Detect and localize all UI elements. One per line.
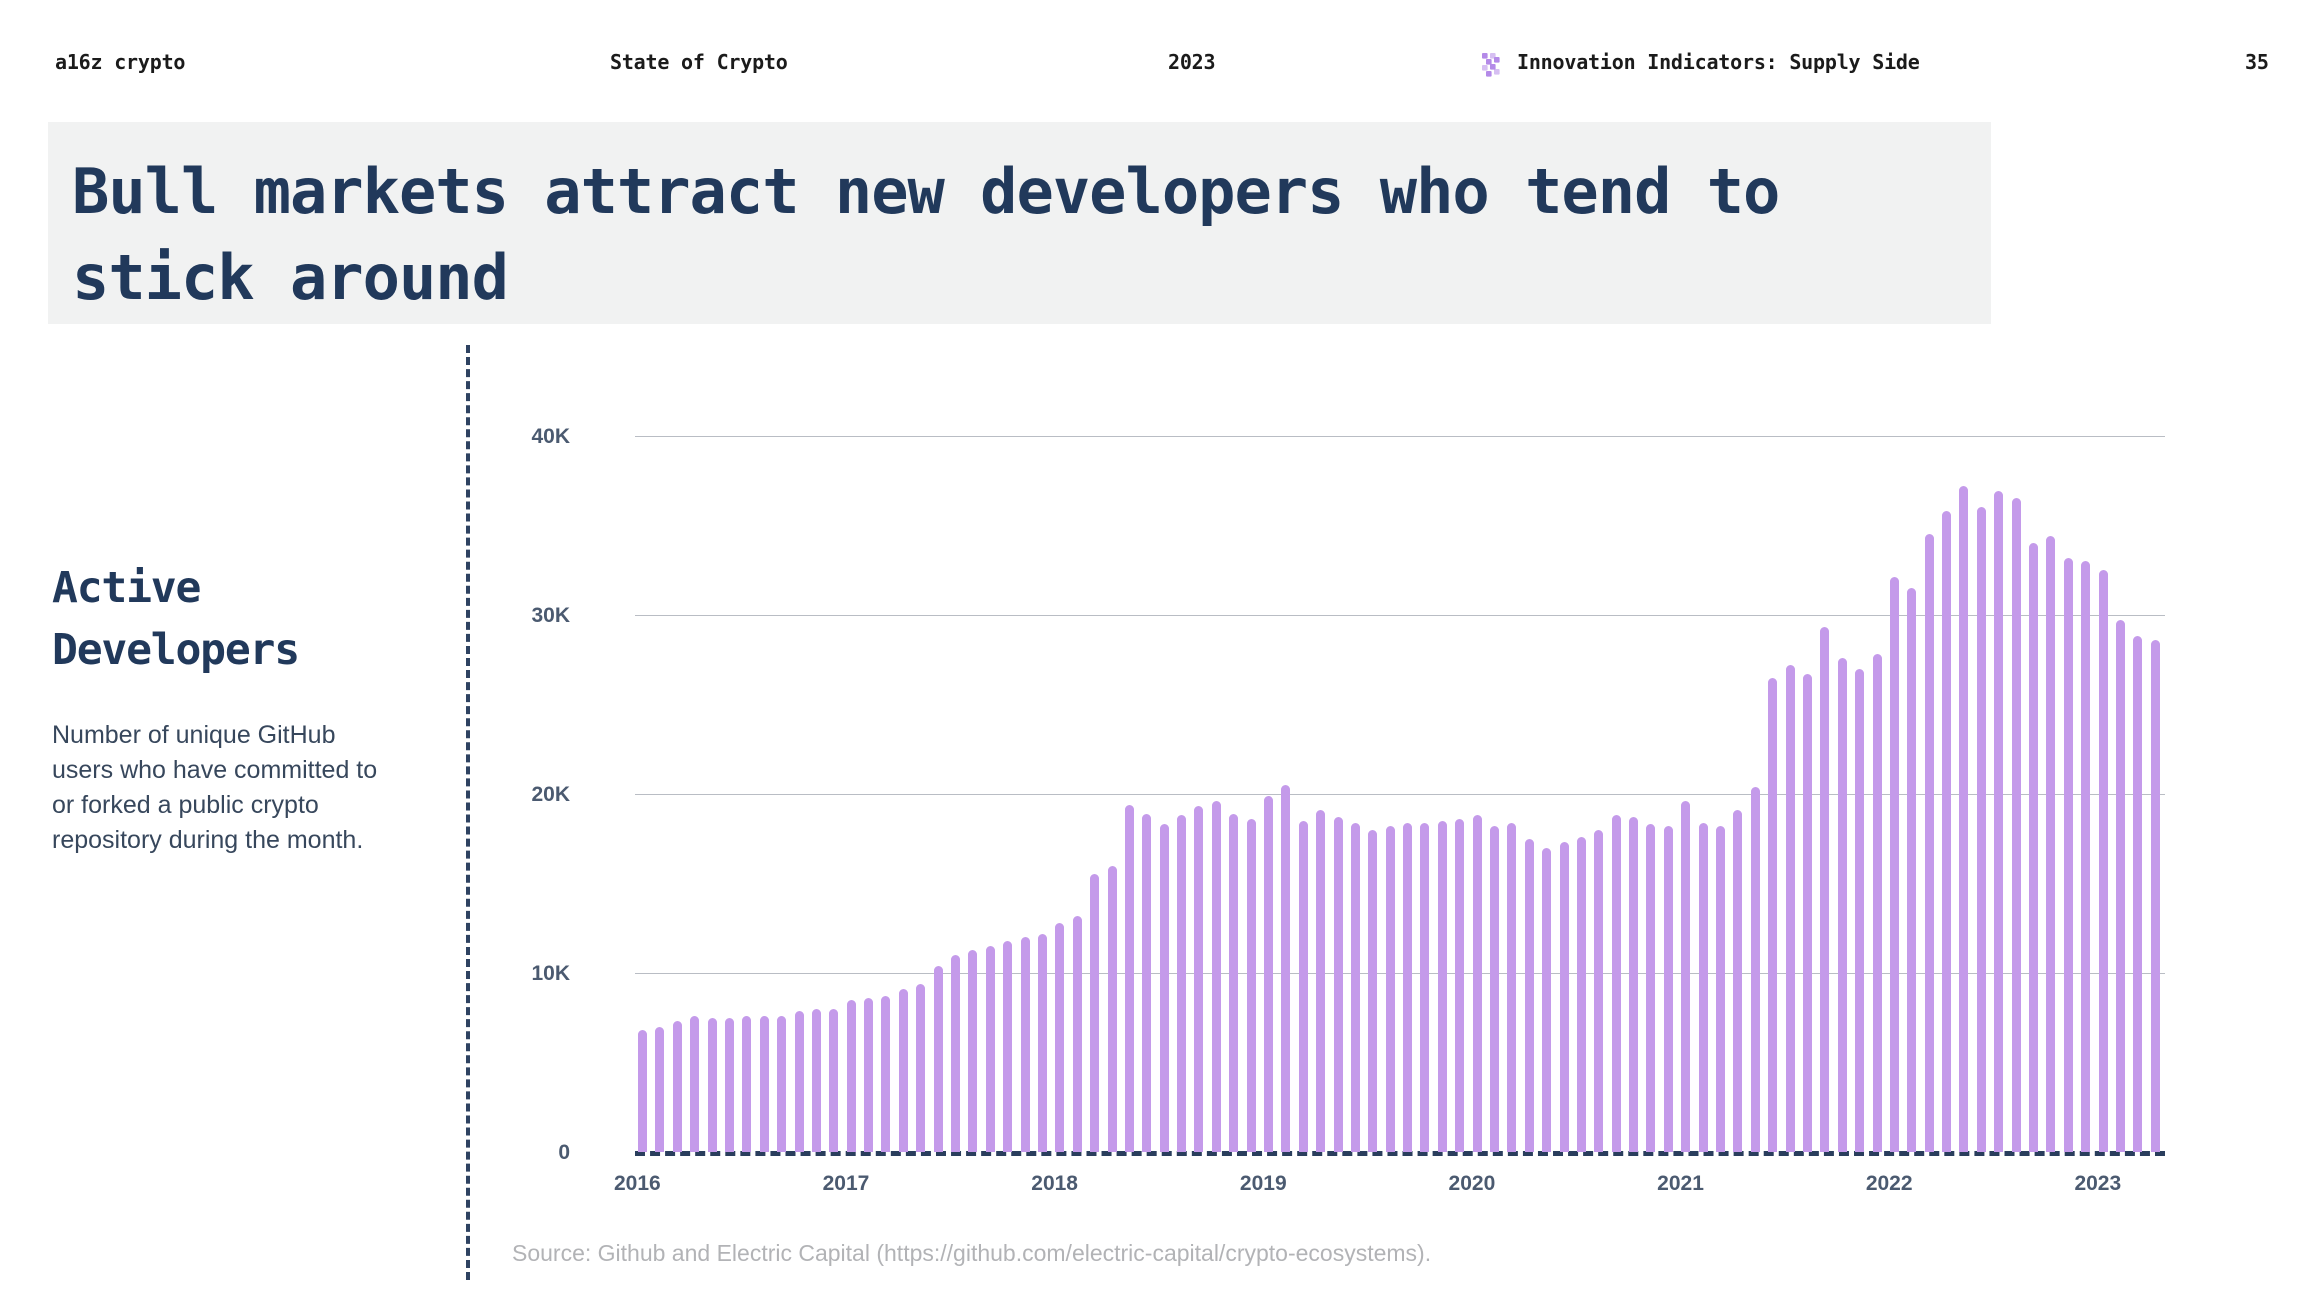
bar	[1194, 806, 1203, 1152]
bar	[1055, 923, 1064, 1152]
y-axis-tick-0: 0	[480, 1141, 570, 1165]
bar	[1594, 830, 1603, 1152]
bar	[1021, 937, 1030, 1152]
bar	[1873, 654, 1882, 1152]
bar	[1368, 830, 1377, 1152]
x-axis-tick-2022: 2022	[1866, 1172, 1913, 1196]
x-axis-tick-2019: 2019	[1240, 1172, 1287, 1196]
bar	[1403, 823, 1412, 1152]
bar	[2133, 636, 2142, 1152]
bar	[1507, 823, 1516, 1152]
bar	[986, 946, 995, 1152]
bar	[795, 1011, 804, 1152]
bar	[1090, 874, 1099, 1152]
bar	[1212, 801, 1221, 1152]
bar	[2081, 561, 2090, 1152]
bar	[1577, 837, 1586, 1152]
bar	[1751, 787, 1760, 1152]
bar	[1803, 674, 1812, 1152]
y-axis-tick-40K: 40K	[480, 425, 570, 449]
bar	[2151, 640, 2160, 1152]
bar	[1942, 511, 1951, 1152]
bar	[1525, 839, 1534, 1152]
active-developers-bar-chart: 010K20K30K40K 20162017201820192020202120…	[0, 0, 2304, 1294]
bar	[899, 989, 908, 1152]
bar	[708, 1018, 717, 1152]
bar	[1281, 785, 1290, 1152]
bar	[1490, 826, 1499, 1152]
bar	[1681, 801, 1690, 1152]
bar	[1316, 810, 1325, 1152]
bar	[1420, 823, 1429, 1152]
bar	[951, 955, 960, 1152]
bar	[655, 1027, 664, 1152]
bar	[916, 984, 925, 1152]
bar	[1733, 810, 1742, 1152]
bar	[1768, 678, 1777, 1152]
bar	[1890, 577, 1899, 1152]
bar	[1038, 934, 1047, 1152]
bar	[2099, 570, 2108, 1152]
y-axis-tick-30K: 30K	[480, 604, 570, 628]
x-axis-tick-2021: 2021	[1657, 1172, 1704, 1196]
bar	[1438, 821, 1447, 1152]
bar	[2029, 543, 2038, 1152]
bar	[2064, 558, 2073, 1152]
source-note: Source: Github and Electric Capital (htt…	[512, 1240, 1431, 1267]
bar	[1455, 819, 1464, 1152]
bar	[2012, 498, 2021, 1152]
bar	[1108, 866, 1117, 1152]
bar	[2116, 620, 2125, 1152]
bar	[1925, 534, 1934, 1152]
bar	[673, 1021, 682, 1152]
x-axis-tick-2023: 2023	[2074, 1172, 2121, 1196]
bar	[847, 1000, 856, 1152]
bar	[1142, 814, 1151, 1152]
bar	[1542, 848, 1551, 1152]
bar	[1473, 815, 1482, 1152]
bar	[1386, 826, 1395, 1152]
bar	[1838, 658, 1847, 1152]
bar	[968, 950, 977, 1152]
bar	[1612, 815, 1621, 1152]
bar	[934, 966, 943, 1152]
bar	[1959, 486, 1968, 1152]
bar	[1699, 823, 1708, 1152]
bar	[1003, 941, 1012, 1152]
bar	[1560, 842, 1569, 1152]
bar	[812, 1009, 821, 1152]
bar	[638, 1030, 647, 1152]
y-axis-tick-10K: 10K	[480, 962, 570, 986]
x-axis-tick-2016: 2016	[614, 1172, 661, 1196]
bar	[1177, 815, 1186, 1152]
chart-bars	[636, 400, 2166, 1152]
y-axis-tick-20K: 20K	[480, 783, 570, 807]
bar	[1299, 821, 1308, 1152]
bar	[760, 1016, 769, 1152]
bar	[881, 996, 890, 1152]
bar	[1907, 588, 1916, 1152]
bar	[1247, 819, 1256, 1152]
bar	[2046, 536, 2055, 1152]
x-axis-tick-2020: 2020	[1449, 1172, 1496, 1196]
bar	[1334, 817, 1343, 1152]
bar	[1351, 823, 1360, 1152]
bar	[1629, 817, 1638, 1152]
bar	[1855, 669, 1864, 1152]
bar	[1125, 805, 1134, 1152]
bar	[1820, 627, 1829, 1152]
bar	[1786, 665, 1795, 1152]
x-axis-tick-2017: 2017	[823, 1172, 870, 1196]
bar	[1073, 916, 1082, 1152]
bar	[1716, 826, 1725, 1152]
bar	[1977, 507, 1986, 1152]
bar	[725, 1018, 734, 1152]
bar	[1160, 824, 1169, 1152]
bar	[690, 1016, 699, 1152]
bar	[864, 998, 873, 1152]
bar	[829, 1009, 838, 1152]
bar	[1229, 814, 1238, 1152]
x-axis-tick-2018: 2018	[1031, 1172, 1078, 1196]
bar	[1994, 491, 2003, 1152]
bar	[742, 1016, 751, 1152]
bar	[1664, 826, 1673, 1152]
bar	[777, 1016, 786, 1152]
slide-page: a16z crypto State of Crypto 2023 Innovat…	[0, 0, 2304, 1294]
bar	[1646, 824, 1655, 1152]
bar	[1264, 796, 1273, 1152]
